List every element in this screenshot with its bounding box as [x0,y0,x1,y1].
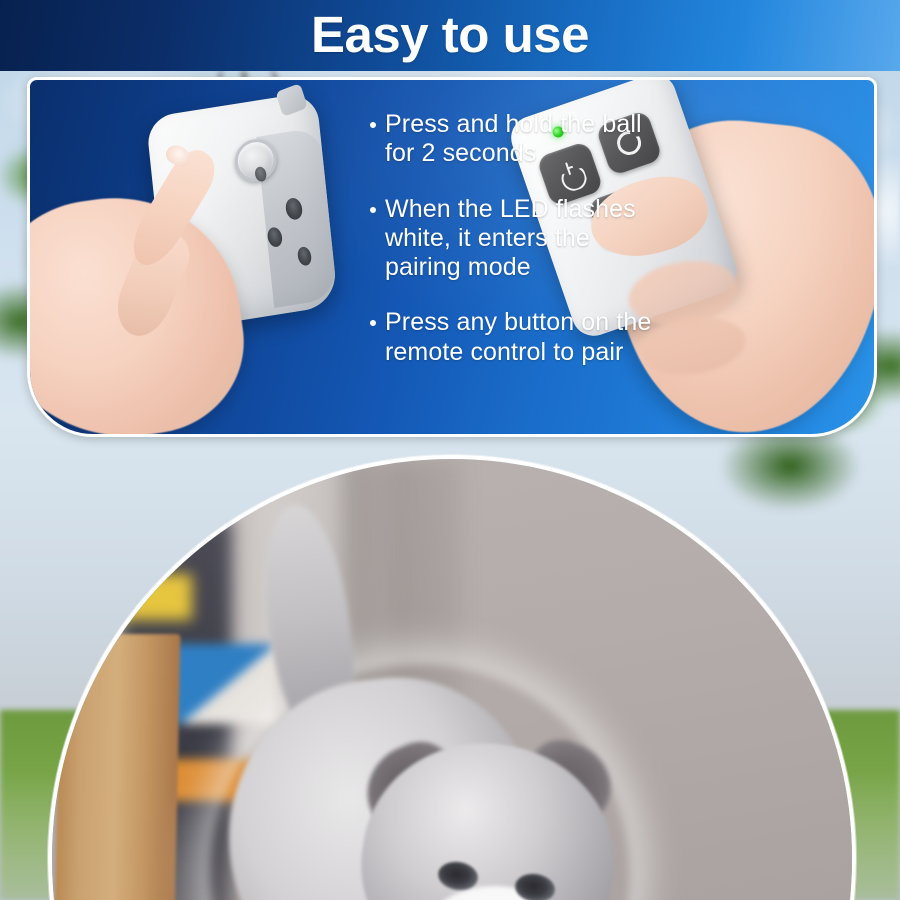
kitten [170,494,730,900]
bullet-dot-icon [370,207,376,213]
instruction-item-1: Press and hold the ball for 2 seconds [370,110,670,169]
instruction-item-3: Press any button on the remote control t… [370,308,670,367]
instruction-text-1: Press and hold the ball for 2 seconds [385,110,670,169]
shell-nub-top [275,83,308,117]
device-press-photo [30,80,360,436]
header-banner: Easy to use [0,0,900,71]
bullet-dot-icon [370,122,376,128]
cat-photo-circle [48,455,856,900]
instruction-list: Press and hold the ball for 2 seconds Wh… [370,110,670,367]
bullet-dot-icon [370,320,376,326]
wooden-post [51,634,180,900]
instruction-text-3: Press any button on the remote control t… [385,308,670,367]
instruction-panel: M Press and hold the ball for 2 seconds … [27,77,877,437]
instruction-text-2: When the LED flashes white, it enters th… [385,195,670,283]
cat-scene [52,459,852,900]
instruction-item-2: When the LED flashes white, it enters th… [370,195,670,283]
infographic-stage: M Press and hold the ball for 2 seconds … [0,0,900,900]
page-title: Easy to use [311,9,589,60]
